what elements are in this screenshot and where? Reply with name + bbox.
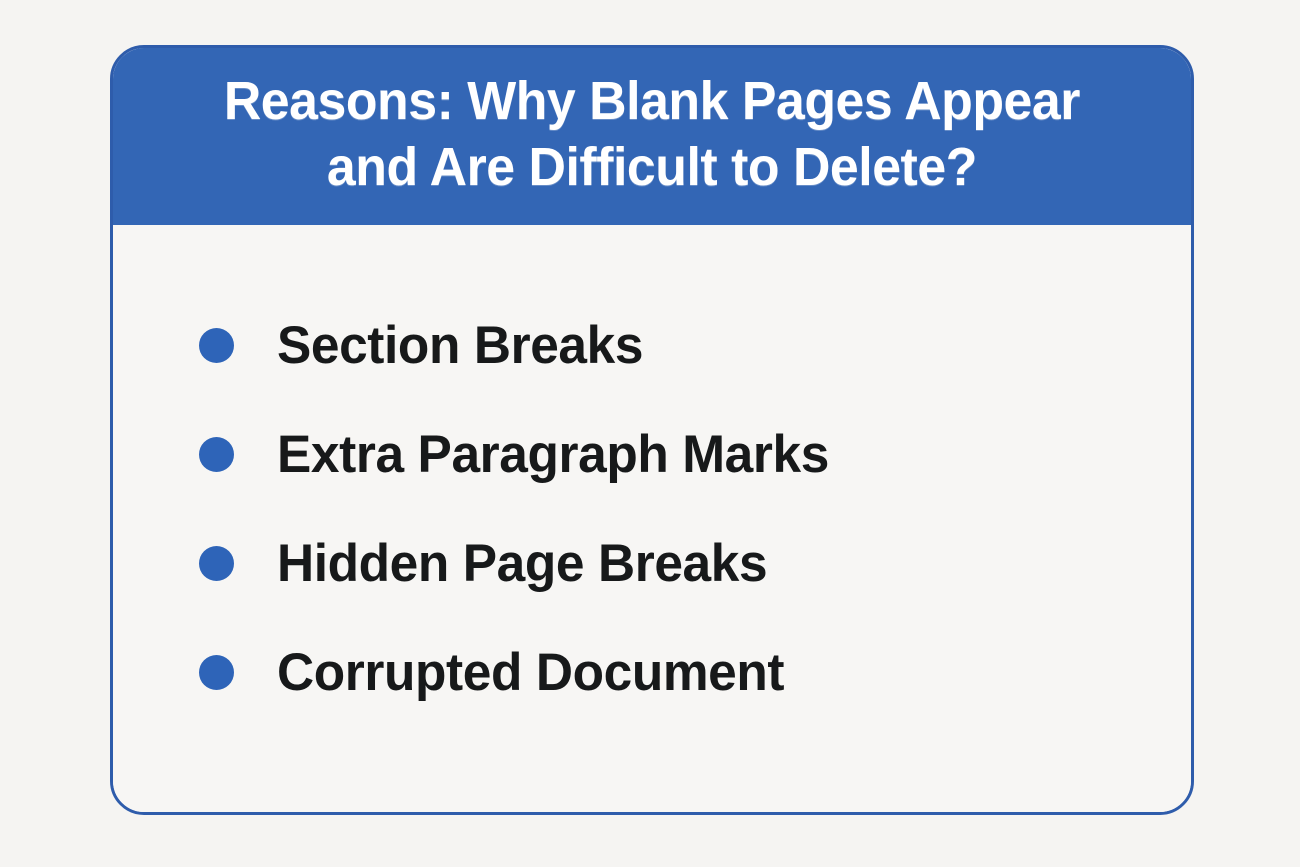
page-canvas: Reasons: Why Blank Pages Appear and Are …	[0, 0, 1300, 867]
card-title: Reasons: Why Blank Pages Appear and Are …	[224, 69, 1080, 201]
list-item: Section Breaks	[113, 291, 1191, 400]
bullet-dot-icon	[199, 655, 234, 690]
list-item: Corrupted Document	[113, 618, 1191, 727]
list-item: Hidden Page Breaks	[113, 509, 1191, 618]
bullet-dot-icon	[199, 546, 234, 581]
bullet-dot-icon	[199, 437, 234, 472]
card-header: Reasons: Why Blank Pages Appear and Are …	[110, 45, 1194, 225]
reason-label: Section Breaks	[277, 319, 643, 372]
reason-label: Corrupted Document	[277, 646, 784, 699]
list-item: Extra Paragraph Marks	[113, 400, 1191, 509]
reason-label: Extra Paragraph Marks	[277, 428, 829, 481]
bullet-dot-icon	[199, 328, 234, 363]
reasons-card: Reasons: Why Blank Pages Appear and Are …	[110, 45, 1194, 815]
reason-list: Section Breaks Extra Paragraph Marks Hid…	[113, 225, 1191, 727]
reason-label: Hidden Page Breaks	[277, 537, 767, 590]
card-body: Section Breaks Extra Paragraph Marks Hid…	[113, 225, 1191, 812]
